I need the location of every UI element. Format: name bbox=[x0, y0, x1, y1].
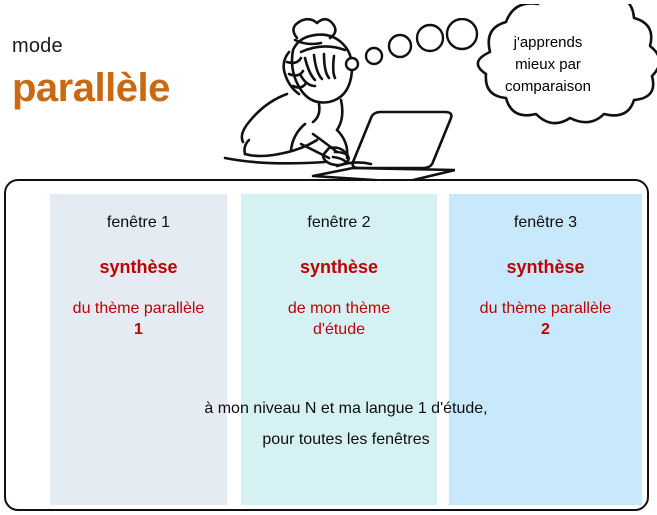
window-2-synthese: synthèse bbox=[241, 257, 437, 279]
window-2-label: fenêtre 2 bbox=[241, 213, 437, 232]
window-1-synthese: synthèse bbox=[50, 257, 227, 279]
header-area: mode parallèle bbox=[0, 0, 657, 178]
window-3-synthese: synthèse bbox=[449, 257, 642, 279]
window-1-subtitle-line2: 1 bbox=[134, 321, 143, 338]
window-1-subtitle: du thème parallèle 1 bbox=[50, 298, 227, 341]
window-3-label: fenêtre 3 bbox=[449, 213, 642, 232]
window-3-subtitle-line1: du thème parallèle bbox=[480, 300, 612, 317]
window-1-label: fenêtre 1 bbox=[50, 213, 227, 232]
parallel-mode-panel: fenêtre 1 synthèse du thème parallèle 1 … bbox=[4, 179, 649, 511]
window-3-subtitle-line2: 2 bbox=[541, 321, 550, 338]
window-column-2[interactable]: fenêtre 2 synthèse de mon thème d'étude bbox=[241, 194, 437, 505]
window-2-subtitle-line1: de mon thème bbox=[288, 300, 390, 317]
window-3-subtitle: du thème parallèle 2 bbox=[449, 298, 642, 341]
window-column-1[interactable]: fenêtre 1 synthèse du thème parallèle 1 bbox=[50, 194, 227, 505]
window-column-3[interactable]: fenêtre 3 synthèse du thème parallèle 2 bbox=[449, 194, 642, 505]
mode-title: parallèle bbox=[12, 68, 170, 108]
windows-columns: fenêtre 1 synthèse du thème parallèle 1 … bbox=[50, 194, 642, 505]
thought-bubble-text: j'apprends mieux par comparaison bbox=[468, 32, 628, 97]
window-1-subtitle-line1: du thème parallèle bbox=[73, 300, 205, 317]
mode-label: mode bbox=[12, 36, 63, 56]
window-2-subtitle: de mon thème d'étude bbox=[241, 298, 437, 341]
window-2-subtitle-line2: d'étude bbox=[313, 321, 365, 338]
